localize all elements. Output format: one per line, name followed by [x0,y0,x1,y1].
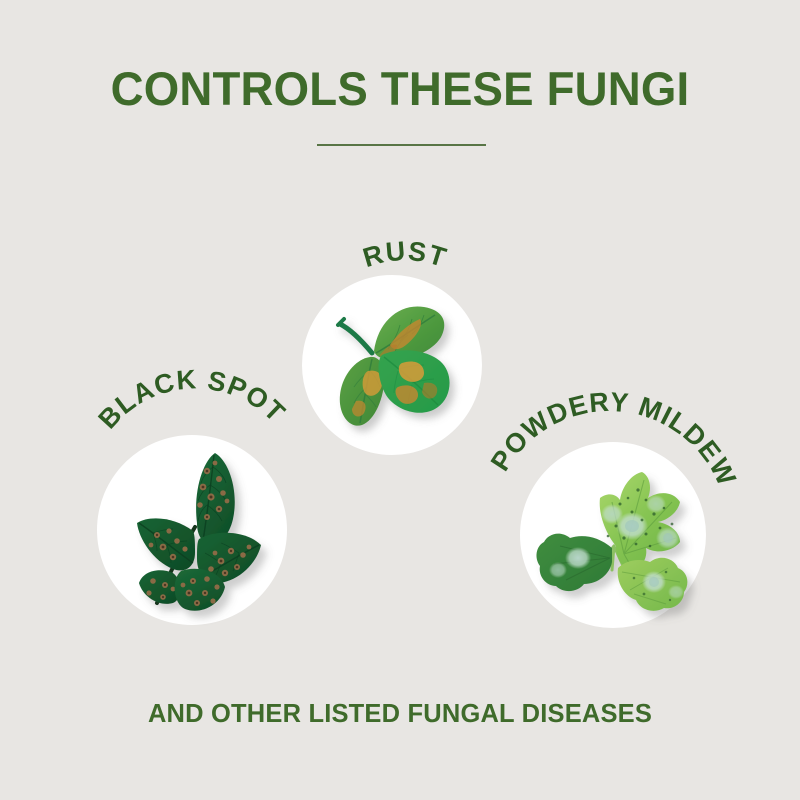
rust-leaf-illustration [302,275,482,455]
badge-black-spot[interactable]: BLACK SPOT [80,370,320,645]
svg-text:BLACK SPOT: BLACK SPOT [92,364,291,434]
badge-black-spot-label: BLACK SPOT [92,364,291,434]
svg-text:RUST: RUST [359,236,450,273]
badge-powdery-mildew[interactable]: POWDERY MILDEW [495,378,745,653]
black-spot-leaf-illustration [97,435,287,625]
page-title: CONTROLS THESE FUNGI [12,64,788,113]
badge-rust-label: RUST [359,236,450,273]
powdery-mildew-leaf-illustration [520,442,706,628]
footer-note: AND OTHER LISTED FUNGAL DISEASES [8,698,792,729]
title-divider [317,144,486,146]
badge-rust[interactable]: RUST [290,205,520,475]
fungi-poster: CONTROLS THESE FUNGI RUST [0,0,800,800]
